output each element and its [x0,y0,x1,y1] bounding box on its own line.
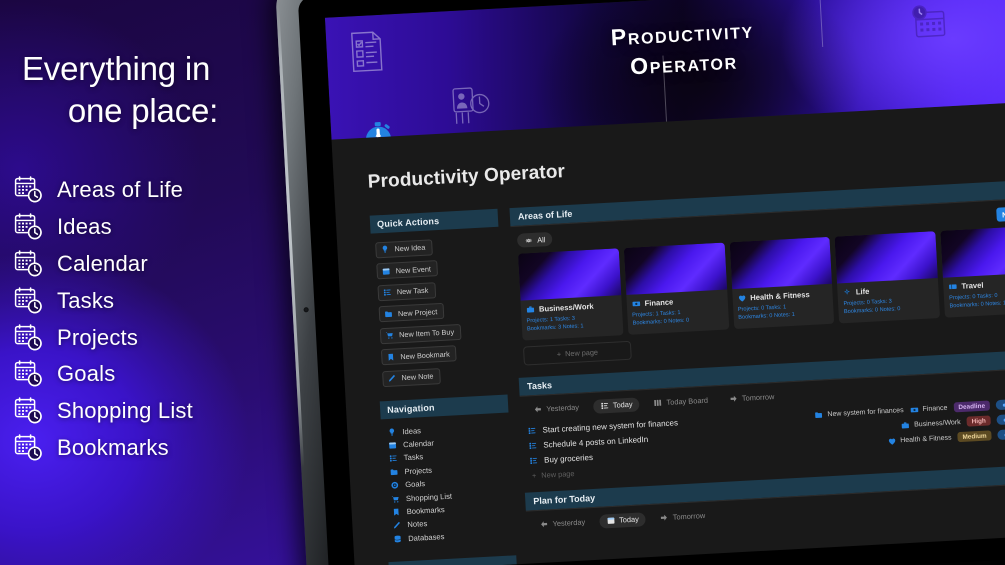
task-area[interactable]: Health & Fitness [887,433,952,445]
area-card[interactable]: FinanceProjects: 1 Tasks: 1Bookmarks: 0 … [624,243,729,335]
sidebar-item-label: Calendar [403,439,434,450]
task-list-icon [383,288,392,297]
quick-action-new-event[interactable]: New Event [376,260,438,279]
tab-label: Yesterday [552,518,585,529]
task-list-icon [529,456,538,465]
task-status-badge: Scheduled [996,398,1005,411]
task-area[interactable]: Business/Work [901,418,961,430]
folder-icon [384,309,393,318]
calendar-icon [381,266,390,275]
briefcase-icon [526,305,535,314]
sidebar-item-label: Tasks [404,453,424,463]
cover-title-line1: Productivity [326,0,1005,68]
cover-title: Productivity Operator [326,0,1005,98]
tab-today[interactable]: Today [599,512,646,529]
promo-item-label: Projects [57,325,138,351]
tab-tomorrow[interactable]: Tomorrow [652,508,712,525]
task-list-icon [600,401,609,410]
quick-action-new-project[interactable]: New Project [379,303,445,323]
promo-item-shopping-list: Shopping List [14,393,314,430]
area-card-meta: LifeProjects: 0 Tasks: 3Bookmarks: 0 Not… [837,278,940,323]
promo-item-label: Tasks [57,288,114,314]
promo-item-label: Calendar [57,251,148,277]
tab-tomorrow[interactable]: Tomorrow [722,389,782,406]
area-card-thumbnail [518,248,621,300]
promo-item-label: Areas of Life [57,177,183,203]
quick-action-new-bookmark[interactable]: New Bookmark [381,345,457,365]
promo-headline-line2: one place: [22,90,312,132]
arrow-right-icon [660,513,669,522]
sidebar-item-label: Ideas [402,426,421,436]
task-area-label: Finance [922,405,947,413]
quick-action-label: New Project [398,307,438,318]
ticket-icon [948,282,957,291]
spacer [791,385,995,396]
spacer [722,500,1001,515]
quick-action-label: New Event [395,264,431,275]
lightbulb-icon [387,427,396,436]
area-card[interactable]: TravelProjects: 0 Tasks: 0Bookmarks: 0 N… [941,225,1005,317]
promo-item-bookmarks: Bookmarks [14,430,314,467]
tab-today-board[interactable]: Today Board [646,393,715,411]
calendar-clock-icon [14,434,44,462]
area-card-meta: FinanceProjects: 1 Tasks: 1Bookmarks: 0 … [626,289,729,334]
database-icon [393,534,402,543]
page-title: Productivity Operator [367,135,1005,194]
gear-icon [524,235,533,244]
page-cover: Productivity Operator [325,0,1005,140]
page-main-column: Areas of Life All [509,179,1005,565]
tab-label: Yesterday [546,403,579,414]
area-card[interactable]: LifeProjects: 0 Tasks: 3Bookmarks: 0 Not… [835,231,940,323]
quick-action-new-note[interactable]: New Note [382,368,441,387]
board-icon [653,398,662,407]
sidebar-item-label: Databases [408,532,445,543]
task-priority-badge: Medium [957,431,992,443]
money-icon [631,299,640,308]
sidebar-item-label: Shopping List [406,491,452,502]
briefcase-icon [901,421,910,430]
bookmark-icon [386,352,395,361]
calendar-clock-icon [14,213,44,241]
calendar-clock-icon [14,287,44,315]
heart-icon [737,293,746,302]
shopping-cart-icon [385,331,394,340]
promo-headline: Everything in one place: [22,48,312,132]
device-screen: Productivity Operator [325,0,1005,565]
task-priority-badge: High [966,416,991,427]
areas-filter-all[interactable]: All [517,232,553,248]
calendar-clock-icon [14,397,44,425]
task-project-label: New system for finances [827,407,904,418]
areas-filter-label: All [537,235,546,244]
plus-icon: + [532,471,537,480]
arrow-left-icon [539,520,548,529]
area-card-thumbnail [835,231,938,283]
cover-divider-left [662,56,667,122]
promo-item-label: Ideas [57,214,112,240]
promo-item-calendar: Calendar [14,246,314,283]
quick-action-label: New Note [401,371,433,382]
tab-label: Today [619,515,639,525]
tab-today[interactable]: Today [593,397,640,414]
cover-title-line2: Operator [328,30,1005,99]
plan-tabs: YesterdayTodayTomorrow [532,508,712,532]
area-card-name: Finance [644,297,673,308]
area-card[interactable]: Business/WorkProjects: 1 Tasks: 3Bookmar… [518,248,623,340]
tasks-block: Tasks YesterdayTodayToday BoardTomorrow … [519,349,1005,481]
promo-feature-list: Areas of LifeIdeasCalendarTasksProjectsG… [14,172,314,466]
promo-item-projects: Projects [14,319,314,356]
plus-icon: + [557,349,562,358]
tab-label: Tomorrow [673,511,706,522]
camera-dot [304,307,309,312]
calendar-clock-icon [14,176,44,204]
promo-item-areas-of-life: Areas of Life [14,172,314,209]
quick-action-new-item-to-buy[interactable]: New Item To Buy [380,323,462,343]
tasks-new-page-label: New page [541,469,575,480]
task-list-icon [527,426,536,435]
area-card[interactable]: Health & FitnessProjects: 0 Tasks: 1Book… [729,237,834,329]
sidebar-item-label: Notes [407,519,427,529]
arrow-left-icon [533,405,542,414]
task-status-badge: Scheduled [997,412,1005,425]
calendar-icon [388,441,397,450]
clock-icon [1001,28,1005,100]
stopwatch-icon [361,119,397,139]
tab-label: Today [613,400,633,410]
promo-item-tasks: Tasks [14,282,314,319]
quick-action-label: New Task [397,286,429,297]
sidebar-item-label: Projects [404,466,432,476]
page-columns: Quick Actions New IdeaNew EventNew TaskN… [370,179,1005,565]
promo-item-goals: Goals [14,356,314,393]
cover-divider-right [819,0,823,47]
area-card-name: Life [856,287,870,297]
task-title: Buy groceries [544,453,593,465]
areas-new-label: New [996,206,1005,221]
sidebar-item-label: Bookmarks [406,505,444,516]
spacer [684,416,809,423]
area-card-thumbnail [624,243,727,295]
navigation-list: IdeasCalendarTasksProjectsGoalsShopping … [381,412,516,546]
promo-item-ideas: Ideas [14,209,314,246]
areas-of-life-block: Areas of Life All [509,179,1005,366]
promo-item-label: Shopping List [57,398,193,424]
promo-item-label: Bookmarks [57,435,169,461]
quick-action-new-idea[interactable]: New Idea [375,239,433,258]
lightbulb-icon [380,245,389,254]
quick-action-new-task[interactable]: New Task [377,282,435,301]
calendar-clock-icon [14,250,44,278]
areas-new-page-label: New page [565,347,598,358]
area-card-thumbnail [941,225,1005,277]
page-sidebar-column: Quick Actions New IdeaNew EventNew TaskN… [370,209,518,565]
folder-icon [389,467,398,476]
pencil-icon [392,521,401,530]
calendar-clock-icon [14,360,44,388]
task-area[interactable]: Finance [909,404,947,415]
areas-new-page-button[interactable]: + New page [523,341,632,366]
area-card-meta: TravelProjects: 0 Tasks: 0Bookmarks: 0 N… [943,272,1005,317]
area-card-thumbnail [729,237,832,289]
calendar-clock-icon [907,2,953,45]
calendar-icon [606,516,615,525]
area-card-title-row: Travel [948,278,1005,292]
quick-action-label: New Idea [394,243,425,254]
bookmark-icon [391,507,400,516]
money-icon [909,405,918,414]
promo-headline-line1: Everything in [22,48,312,90]
person-at-desk-icon [447,83,498,135]
area-card-name: Travel [961,281,983,291]
shopping-cart-icon [391,494,400,503]
task-list-icon [389,454,398,463]
task-priority-badge: Deadline [953,401,990,413]
page-body: Productivity Operator Quick Actions New … [333,135,1005,565]
task-status-badge: Scheduled [997,427,1005,440]
promo-item-label: Goals [57,361,115,387]
tab-yesterday[interactable]: Yesterday [532,515,592,532]
quick-actions-list: New IdeaNew EventNew TaskNew ProjectNew … [371,227,507,392]
sidebar-item-label: Goals [405,479,425,489]
tab-label: Tomorrow [742,392,775,403]
pencil-icon [387,373,396,382]
sparkle-icon [843,288,852,297]
areas-new-button[interactable]: New ⌄ [996,206,1005,222]
tab-yesterday[interactable]: Yesterday [526,400,586,417]
area-card-meta: Health & FitnessProjects: 0 Tasks: 1Book… [732,284,835,329]
bookmarks-heading: Bookmarks [388,555,517,565]
tab-label: Today Board [666,396,708,407]
area-card-name: Health & Fitness [750,290,810,302]
area-card-meta: Business/WorkProjects: 1 Tasks: 3Bookmar… [520,295,623,340]
quick-action-label: New Item To Buy [399,327,454,339]
calendar-clock-icon [14,324,44,352]
clipboard-checklist-icon [348,29,387,80]
task-area-label: Health & Fitness [900,434,952,444]
folder-icon [814,410,823,419]
task-list-icon [528,441,537,450]
area-card-name: Business/Work [539,302,594,314]
laptop-device: Productivity Operator [275,0,1005,565]
arrow-right-icon [729,394,738,403]
task-area-label: Business/Work [914,419,961,429]
device-bezel: Productivity Operator [298,0,1005,565]
quick-action-label: New Bookmark [400,349,450,361]
target-icon [390,481,399,490]
heart-icon [887,436,896,445]
